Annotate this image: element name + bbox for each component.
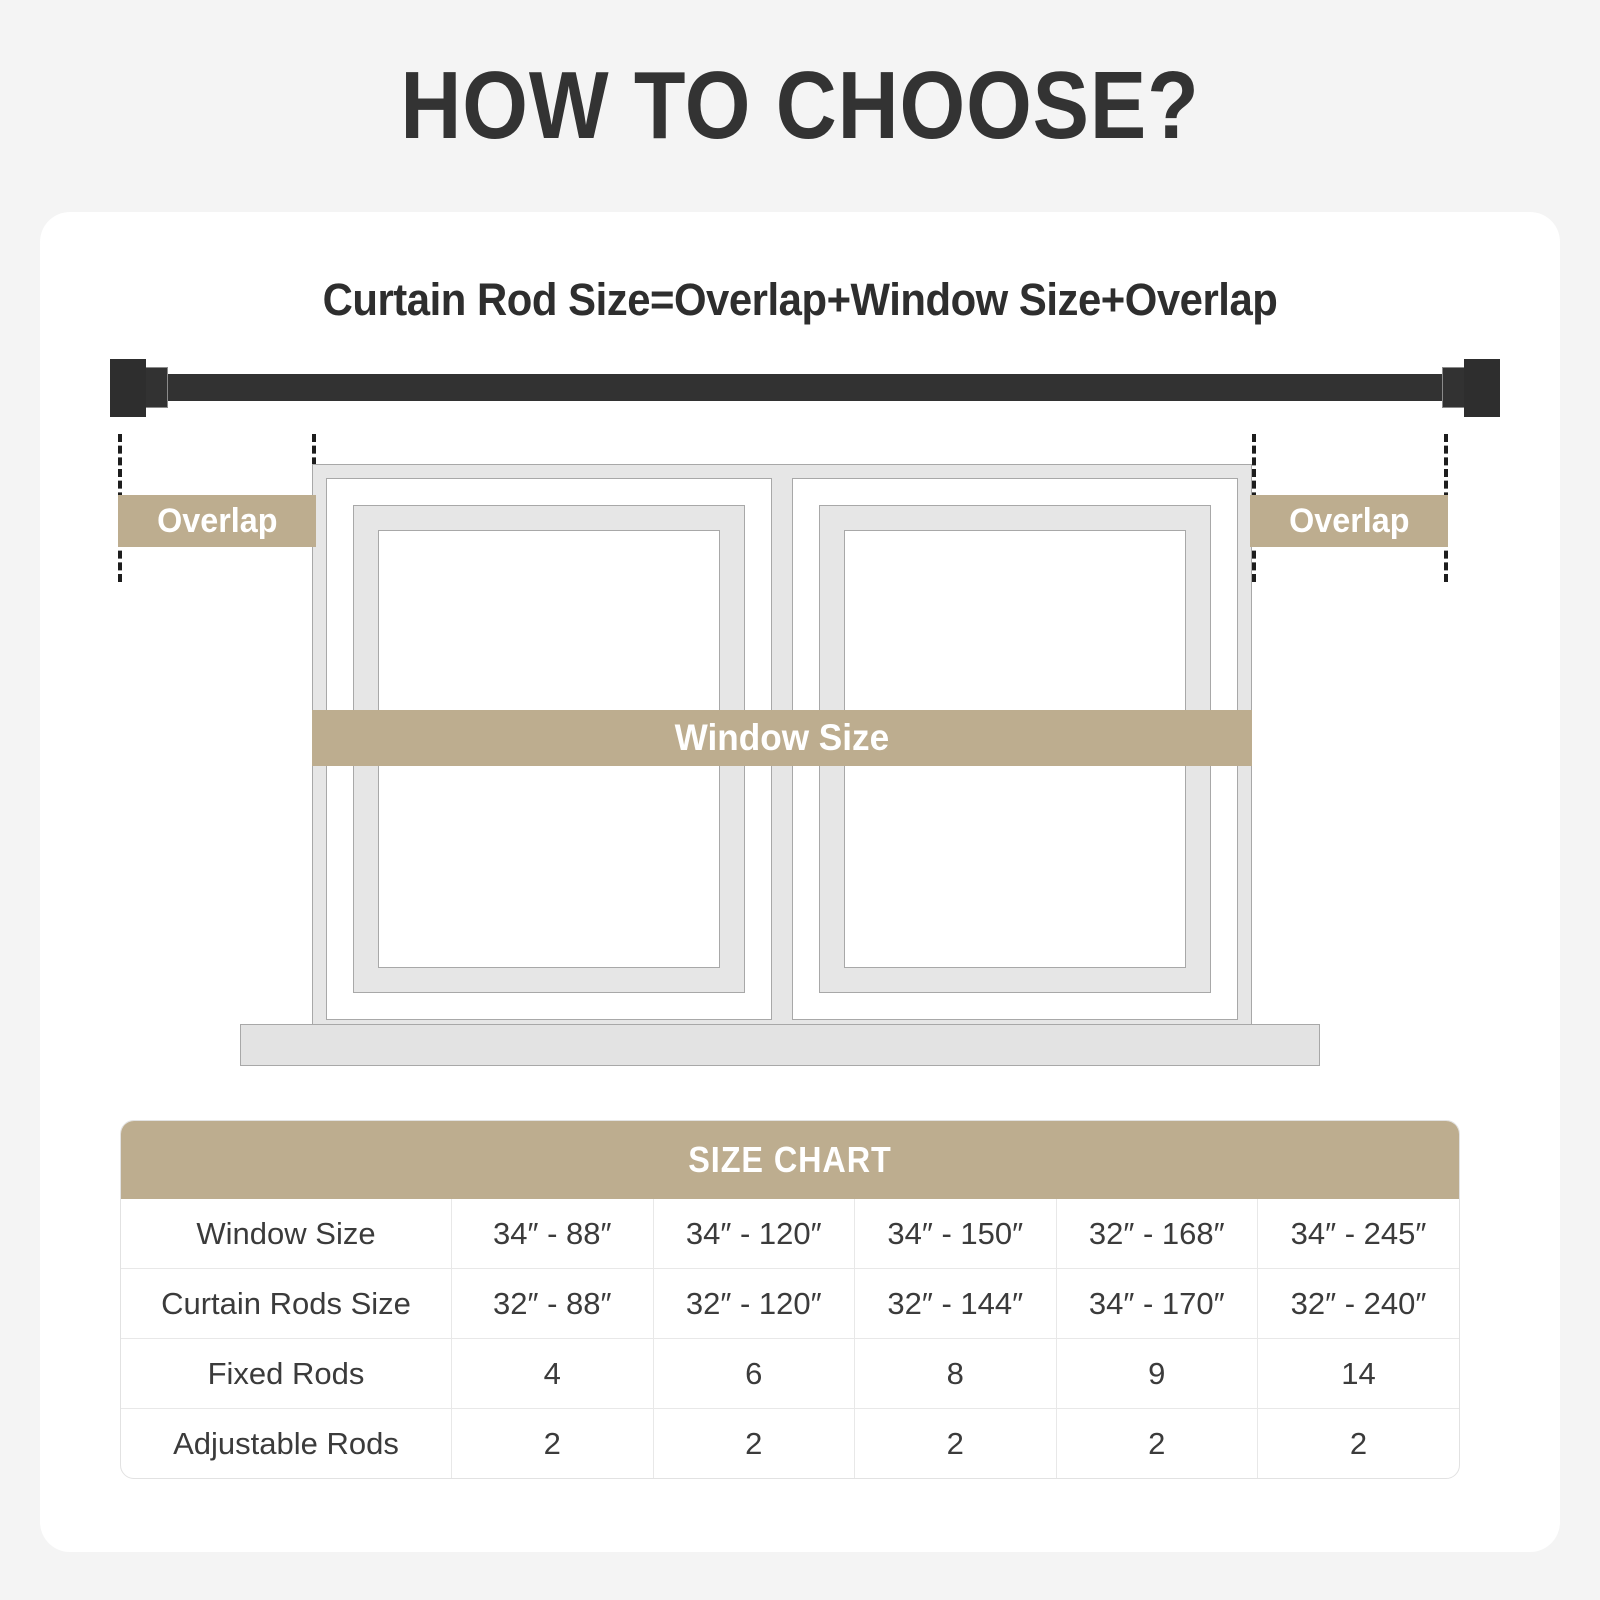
size-chart-table: Window Size34″ - 88″34″ - 120″34″ - 150″… xyxy=(121,1199,1459,1478)
overlap-band-left: Overlap xyxy=(118,495,316,547)
table-cell: 2 xyxy=(1258,1409,1460,1479)
overlap-label-right: Overlap xyxy=(1289,502,1409,541)
table-cell: 34″ - 120″ xyxy=(653,1199,855,1269)
overlap-band-right: Overlap xyxy=(1250,495,1448,547)
table-cell: 32″ - 88″ xyxy=(452,1269,654,1339)
window-size-label: Window Size xyxy=(675,717,889,759)
rod-finial-left xyxy=(110,359,146,417)
table-row-label: Curtain Rods Size xyxy=(121,1269,452,1339)
table-row: Window Size34″ - 88″34″ - 120″34″ - 150″… xyxy=(121,1199,1459,1269)
table-cell: 34″ - 170″ xyxy=(1056,1269,1258,1339)
table-cell: 6 xyxy=(653,1339,855,1409)
window-size-band: Window Size xyxy=(312,710,1252,766)
table-row-label: Adjustable Rods xyxy=(121,1409,452,1479)
table-row: Fixed Rods468914 xyxy=(121,1339,1459,1409)
table-row-label: Fixed Rods xyxy=(121,1339,452,1409)
curtain-rod-illustration xyxy=(110,357,1500,419)
table-cell: 2 xyxy=(1056,1409,1258,1479)
overlap-label-left: Overlap xyxy=(157,502,277,541)
size-chart-header-label: SIZE CHART xyxy=(688,1139,891,1181)
table-cell: 2 xyxy=(452,1409,654,1479)
table-cell: 34″ - 150″ xyxy=(855,1199,1057,1269)
table-cell: 8 xyxy=(855,1339,1057,1409)
table-cell: 32″ - 168″ xyxy=(1056,1199,1258,1269)
window-sill xyxy=(240,1024,1320,1066)
table-cell: 2 xyxy=(855,1409,1057,1479)
table-row: Curtain Rods Size32″ - 88″32″ - 120″32″ … xyxy=(121,1269,1459,1339)
rod-finial-right xyxy=(1464,359,1500,417)
measurement-diagram: Overlap Overlap Window Size xyxy=(40,212,1560,1112)
rod-bar xyxy=(148,374,1462,401)
size-chart: SIZE CHART Window Size34″ - 88″34″ - 120… xyxy=(120,1120,1460,1479)
table-cell: 34″ - 245″ xyxy=(1258,1199,1460,1269)
size-chart-header: SIZE CHART xyxy=(121,1121,1459,1199)
infographic-page: HOW TO CHOOSE? Curtain Rod Size=Overlap+… xyxy=(0,0,1600,1600)
table-cell: 4 xyxy=(452,1339,654,1409)
table-row-label: Window Size xyxy=(121,1199,452,1269)
size-chart-body: Window Size34″ - 88″34″ - 120″34″ - 150″… xyxy=(121,1199,1459,1478)
table-cell: 32″ - 120″ xyxy=(653,1269,855,1339)
table-cell: 14 xyxy=(1258,1339,1460,1409)
content-card: Curtain Rod Size=Overlap+Window Size+Ove… xyxy=(40,212,1560,1552)
table-cell: 34″ - 88″ xyxy=(452,1199,654,1269)
table-cell: 9 xyxy=(1056,1339,1258,1409)
table-cell: 32″ - 144″ xyxy=(855,1269,1057,1339)
table-row: Adjustable Rods22222 xyxy=(121,1409,1459,1479)
page-title: HOW TO CHOOSE? xyxy=(96,58,1504,154)
table-cell: 2 xyxy=(653,1409,855,1479)
table-cell: 32″ - 240″ xyxy=(1258,1269,1460,1339)
